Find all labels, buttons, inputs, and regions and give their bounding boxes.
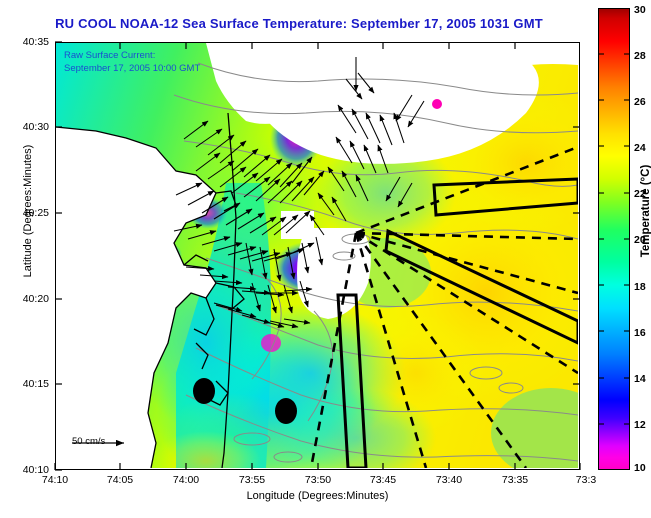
vector-scale-arrow-icon xyxy=(66,436,146,452)
cb-tick-2: 26 xyxy=(634,96,646,108)
figure-title: RU COOL NOAA-12 Sea Surface Temperature:… xyxy=(0,16,598,31)
x-tick-3: 73:55 xyxy=(239,474,265,486)
x-tick-2: 74:00 xyxy=(173,474,199,486)
y-tick-5: 40:10 xyxy=(23,464,49,476)
station-marker-2[interactable] xyxy=(275,398,297,424)
y-tick-4: 40:15 xyxy=(23,378,49,390)
cb-tick-10: 10 xyxy=(634,462,646,474)
cb-tick-7: 16 xyxy=(634,327,646,339)
x-tick-8: 73:3 xyxy=(576,474,596,486)
y-tick-0: 40:35 xyxy=(23,36,49,48)
colorbar-title: Temperature (°C) xyxy=(640,121,651,301)
current-annotation: Raw Surface Current: September 17, 2005 … xyxy=(64,49,200,75)
map-canvas xyxy=(56,43,578,468)
cb-tick-1: 28 xyxy=(634,50,646,62)
x-tick-6: 73:40 xyxy=(436,474,462,486)
x-tick-labels: 74:10 74:05 74:00 73:55 73:50 73:45 73:4… xyxy=(0,474,651,488)
station-marker-1[interactable] xyxy=(193,378,215,404)
cb-tick-0: 30 xyxy=(634,4,646,16)
map-plot-area[interactable]: Raw Surface Current: September 17, 2005 … xyxy=(55,42,580,470)
vector-scale-key: 50 cm/s xyxy=(66,436,156,447)
x-tick-7: 73:35 xyxy=(502,474,528,486)
x-axis-title: Longitude (Degrees:Minutes) xyxy=(55,490,580,502)
cb-tick-9: 12 xyxy=(634,419,646,431)
x-tick-5: 73:45 xyxy=(370,474,396,486)
annotation-line-1: Raw Surface Current: xyxy=(64,49,200,62)
cb-tick-8: 14 xyxy=(634,373,646,385)
y-axis-title: Latitude (Degrees:Minutes) xyxy=(22,91,34,331)
sst-map-figure: RU COOL NOAA-12 Sea Surface Temperature:… xyxy=(0,0,651,518)
x-tick-1: 74:05 xyxy=(107,474,133,486)
x-tick-4: 73:50 xyxy=(305,474,331,486)
annotation-line-2: September 17, 2005 10:00 GMT xyxy=(64,62,200,75)
colorbar[interactable] xyxy=(598,8,630,470)
